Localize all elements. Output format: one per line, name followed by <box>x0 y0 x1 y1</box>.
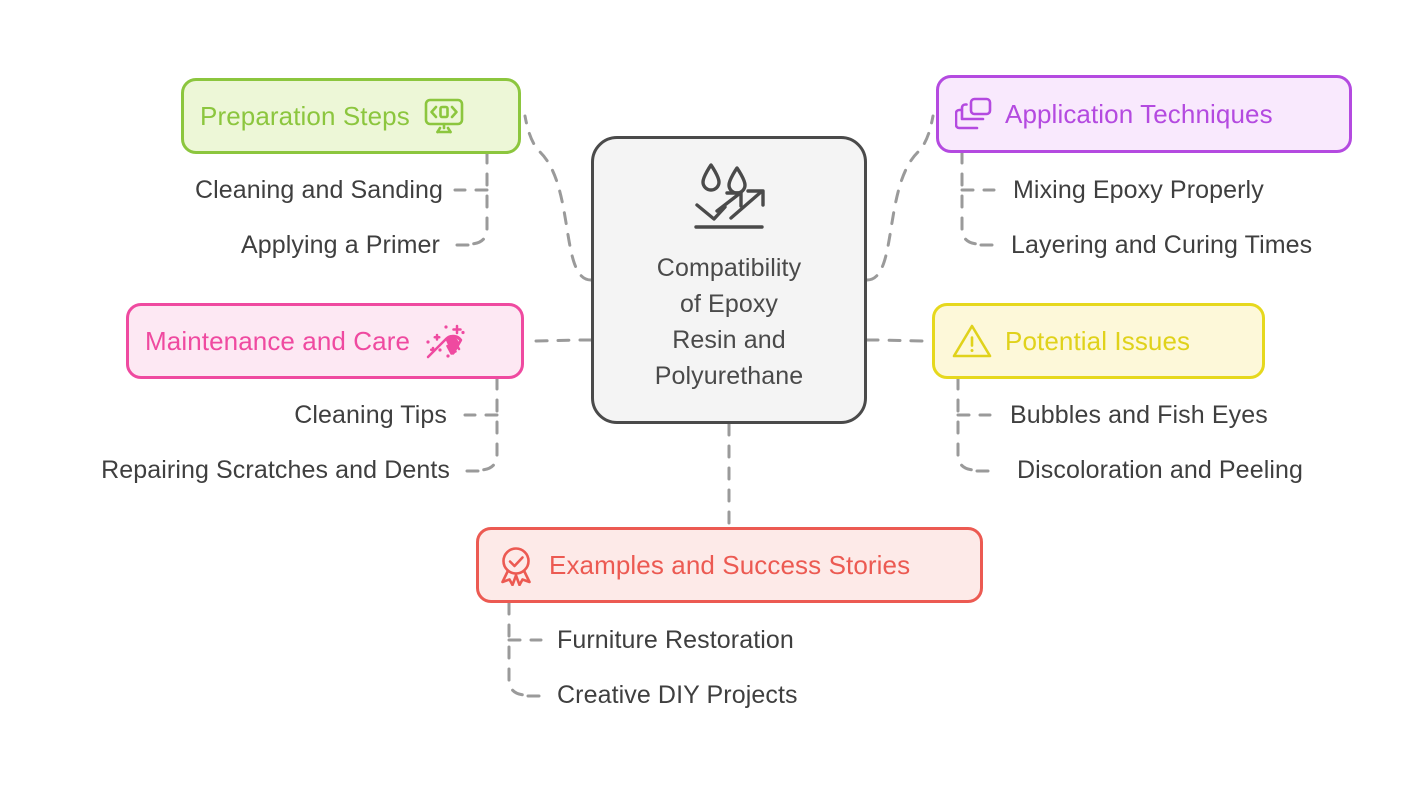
subitem-furniture-restoration[interactable]: Furniture Restoration <box>557 628 794 653</box>
water-repellent-icon <box>687 161 771 238</box>
edge-application-spine <box>962 152 977 244</box>
edge-preparation-spine <box>472 152 487 244</box>
mindmap-canvas: Compatibility of Epoxy Resin and Polyure… <box>0 0 1407 786</box>
edge-center-application <box>867 116 933 280</box>
central-node-title: Compatibility of Epoxy Resin and Polyure… <box>655 250 804 394</box>
subitem-cleaning-tips[interactable]: Cleaning Tips <box>0 403 447 428</box>
award-check-icon <box>495 544 537 586</box>
edge-maintenance-spine <box>482 378 497 470</box>
subitem-repairing-scratches-and-dents[interactable]: Repairing Scratches and Dents <box>0 458 450 483</box>
subitem-cleaning-and-sanding[interactable]: Cleaning and Sanding <box>0 178 443 203</box>
edge-examples-spine <box>509 603 524 695</box>
branch-node-preparation-steps[interactable]: Preparation Steps <box>181 78 521 154</box>
monitor-code-icon <box>424 97 464 135</box>
edge-center-maintenance <box>527 340 591 341</box>
edge-center-potential <box>867 340 931 341</box>
subitem-layering-and-curing-times[interactable]: Layering and Curing Times <box>1011 233 1312 258</box>
broom-sparkle-icon <box>424 320 468 362</box>
subitem-discoloration-and-peeling[interactable]: Discoloration and Peeling <box>1017 458 1303 483</box>
central-node[interactable]: Compatibility of Epoxy Resin and Polyure… <box>591 136 867 424</box>
branch-node-potential-issues[interactable]: Potential Issues <box>932 303 1265 379</box>
branch-node-maintenance-and-care[interactable]: Maintenance and Care <box>126 303 524 379</box>
branch-label-examples-and-success-stories: Examples and Success Stories <box>549 552 910 578</box>
subitem-mixing-epoxy-properly[interactable]: Mixing Epoxy Properly <box>1013 178 1264 203</box>
warning-triangle-icon <box>951 321 993 361</box>
branch-label-potential-issues: Potential Issues <box>1005 328 1190 354</box>
branch-label-application-techniques: Application Techniques <box>1005 101 1273 127</box>
edge-center-preparation <box>525 116 591 280</box>
subitem-bubbles-and-fish-eyes[interactable]: Bubbles and Fish Eyes <box>1010 403 1268 428</box>
branch-label-maintenance-and-care: Maintenance and Care <box>145 328 410 354</box>
layers-copy-icon <box>955 95 993 133</box>
branch-label-preparation-steps: Preparation Steps <box>200 103 410 129</box>
edge-potential-spine <box>958 378 973 470</box>
subitem-creative-diy-projects[interactable]: Creative DIY Projects <box>557 683 798 708</box>
branch-node-application-techniques[interactable]: Application Techniques <box>936 75 1352 153</box>
subitem-applying-a-primer[interactable]: Applying a Primer <box>0 233 440 258</box>
branch-node-examples-and-success-stories[interactable]: Examples and Success Stories <box>476 527 983 603</box>
